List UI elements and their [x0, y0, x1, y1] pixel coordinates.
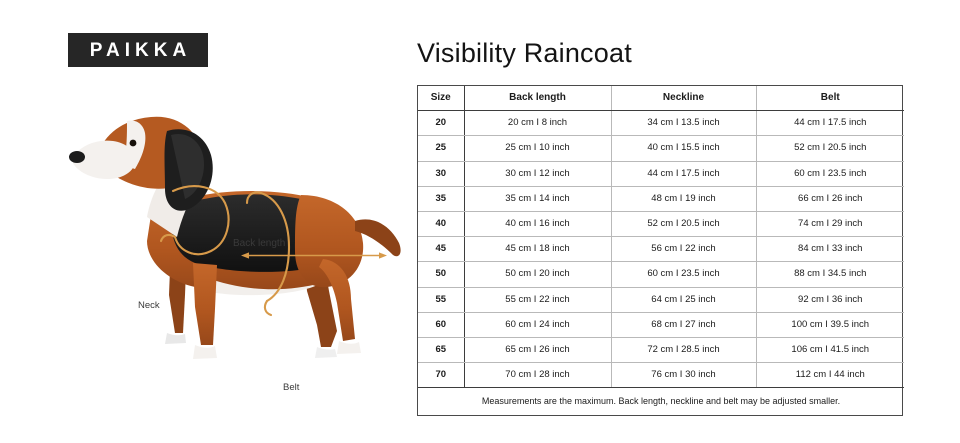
size-cell-size: 40 — [418, 212, 464, 237]
size-cell-neckline: 56 cm I 22 inch — [611, 237, 756, 262]
table-foot: Measurements are the maximum. Back lengt… — [418, 388, 904, 416]
size-cell-size: 25 — [418, 136, 464, 161]
size-cell-back-length: 35 cm I 14 inch — [464, 186, 611, 211]
column-header-belt: Belt — [756, 86, 904, 111]
size-cell-belt: 84 cm I 33 inch — [756, 237, 904, 262]
table-row: 6565 cm I 26 inch72 cm I 28.5 inch106 cm… — [418, 338, 904, 363]
column-header-neckline: Neckline — [611, 86, 756, 111]
table-row: 3030 cm I 12 inch44 cm I 17.5 inch60 cm … — [418, 161, 904, 186]
table-row: 2525 cm I 10 inch40 cm I 15.5 inch52 cm … — [418, 136, 904, 161]
size-cell-size: 35 — [418, 186, 464, 211]
size-cell-belt: 88 cm I 34.5 inch — [756, 262, 904, 287]
table-note-row: Measurements are the maximum. Back lengt… — [418, 388, 904, 416]
brand-name: PAIKKA — [85, 41, 191, 60]
size-cell-neckline: 72 cm I 28.5 inch — [611, 338, 756, 363]
table-row: 6060 cm I 24 inch68 cm I 27 inch100 cm I… — [418, 312, 904, 337]
label-back-length: Back length — [233, 238, 285, 249]
size-cell-back-length: 45 cm I 18 inch — [464, 237, 611, 262]
size-chart-panel: Visibility Raincoat Size Back length Nec… — [405, 0, 960, 443]
size-cell-back-length: 50 cm I 20 inch — [464, 262, 611, 287]
page-title: Visibility Raincoat — [417, 40, 632, 67]
table-head: Size Back length Neckline Belt — [418, 86, 904, 111]
table-row: 4545 cm I 18 inch56 cm I 22 inch84 cm I … — [418, 237, 904, 262]
size-cell-belt: 44 cm I 17.5 inch — [756, 111, 904, 136]
back-length-arrow-icon — [241, 251, 387, 260]
size-cell-belt: 112 cm I 44 inch — [756, 363, 904, 388]
size-cell-neckline: 52 cm I 20.5 inch — [611, 212, 756, 237]
size-table-container: Size Back length Neckline Belt 2020 cm I… — [417, 85, 903, 416]
size-cell-back-length: 25 cm I 10 inch — [464, 136, 611, 161]
size-cell-neckline: 34 cm I 13.5 inch — [611, 111, 756, 136]
size-cell-size: 55 — [418, 287, 464, 312]
size-table: Size Back length Neckline Belt 2020 cm I… — [418, 86, 904, 415]
size-cell-back-length: 60 cm I 24 inch — [464, 312, 611, 337]
table-row: 4040 cm I 16 inch52 cm I 20.5 inch74 cm … — [418, 212, 904, 237]
size-cell-belt: 74 cm I 29 inch — [756, 212, 904, 237]
size-cell-back-length: 70 cm I 28 inch — [464, 363, 611, 388]
size-cell-neckline: 64 cm I 25 inch — [611, 287, 756, 312]
size-cell-belt: 60 cm I 23.5 inch — [756, 161, 904, 186]
size-cell-neckline: 68 cm I 27 inch — [611, 312, 756, 337]
size-cell-belt: 100 cm I 39.5 inch — [756, 312, 904, 337]
size-cell-size: 45 — [418, 237, 464, 262]
dog-illustration: Back length Neck Belt — [55, 95, 405, 385]
size-cell-belt: 92 cm I 36 inch — [756, 287, 904, 312]
size-cell-size: 70 — [418, 363, 464, 388]
table-row: 7070 cm I 28 inch76 cm I 30 inch112 cm I… — [418, 363, 904, 388]
size-cell-size: 50 — [418, 262, 464, 287]
dog-figure-svg — [55, 95, 405, 385]
size-cell-back-length: 65 cm I 26 inch — [464, 338, 611, 363]
table-body: 2020 cm I 8 inch34 cm I 13.5 inch44 cm I… — [418, 111, 904, 388]
label-belt: Belt — [283, 382, 299, 393]
table-row: 3535 cm I 14 inch48 cm I 19 inch66 cm I … — [418, 186, 904, 211]
table-header-row: Size Back length Neckline Belt — [418, 86, 904, 111]
size-cell-belt: 52 cm I 20.5 inch — [756, 136, 904, 161]
illustration-panel: PAIKKA — [0, 0, 405, 443]
size-cell-size: 20 — [418, 111, 464, 136]
size-cell-neckline: 44 cm I 17.5 inch — [611, 161, 756, 186]
size-cell-back-length: 30 cm I 12 inch — [464, 161, 611, 186]
table-row: 2020 cm I 8 inch34 cm I 13.5 inch44 cm I… — [418, 111, 904, 136]
size-cell-neckline: 76 cm I 30 inch — [611, 363, 756, 388]
measurement-note: Measurements are the maximum. Back lengt… — [418, 388, 904, 416]
size-cell-back-length: 20 cm I 8 inch — [464, 111, 611, 136]
size-cell-back-length: 55 cm I 22 inch — [464, 287, 611, 312]
label-neck: Neck — [138, 300, 160, 311]
size-guide-page: PAIKKA — [0, 0, 960, 443]
size-cell-size: 65 — [418, 338, 464, 363]
size-cell-size: 30 — [418, 161, 464, 186]
column-header-back-length: Back length — [464, 86, 611, 111]
table-row: 5050 cm I 20 inch60 cm I 23.5 inch88 cm … — [418, 262, 904, 287]
size-cell-neckline: 40 cm I 15.5 inch — [611, 136, 756, 161]
size-cell-neckline: 60 cm I 23.5 inch — [611, 262, 756, 287]
size-cell-neckline: 48 cm I 19 inch — [611, 186, 756, 211]
size-cell-belt: 106 cm I 41.5 inch — [756, 338, 904, 363]
size-cell-back-length: 40 cm I 16 inch — [464, 212, 611, 237]
size-cell-size: 60 — [418, 312, 464, 337]
size-cell-belt: 66 cm I 26 inch — [756, 186, 904, 211]
table-row: 5555 cm I 22 inch64 cm I 25 inch92 cm I … — [418, 287, 904, 312]
column-header-size: Size — [418, 86, 464, 111]
paikka-logo: PAIKKA — [68, 33, 208, 67]
